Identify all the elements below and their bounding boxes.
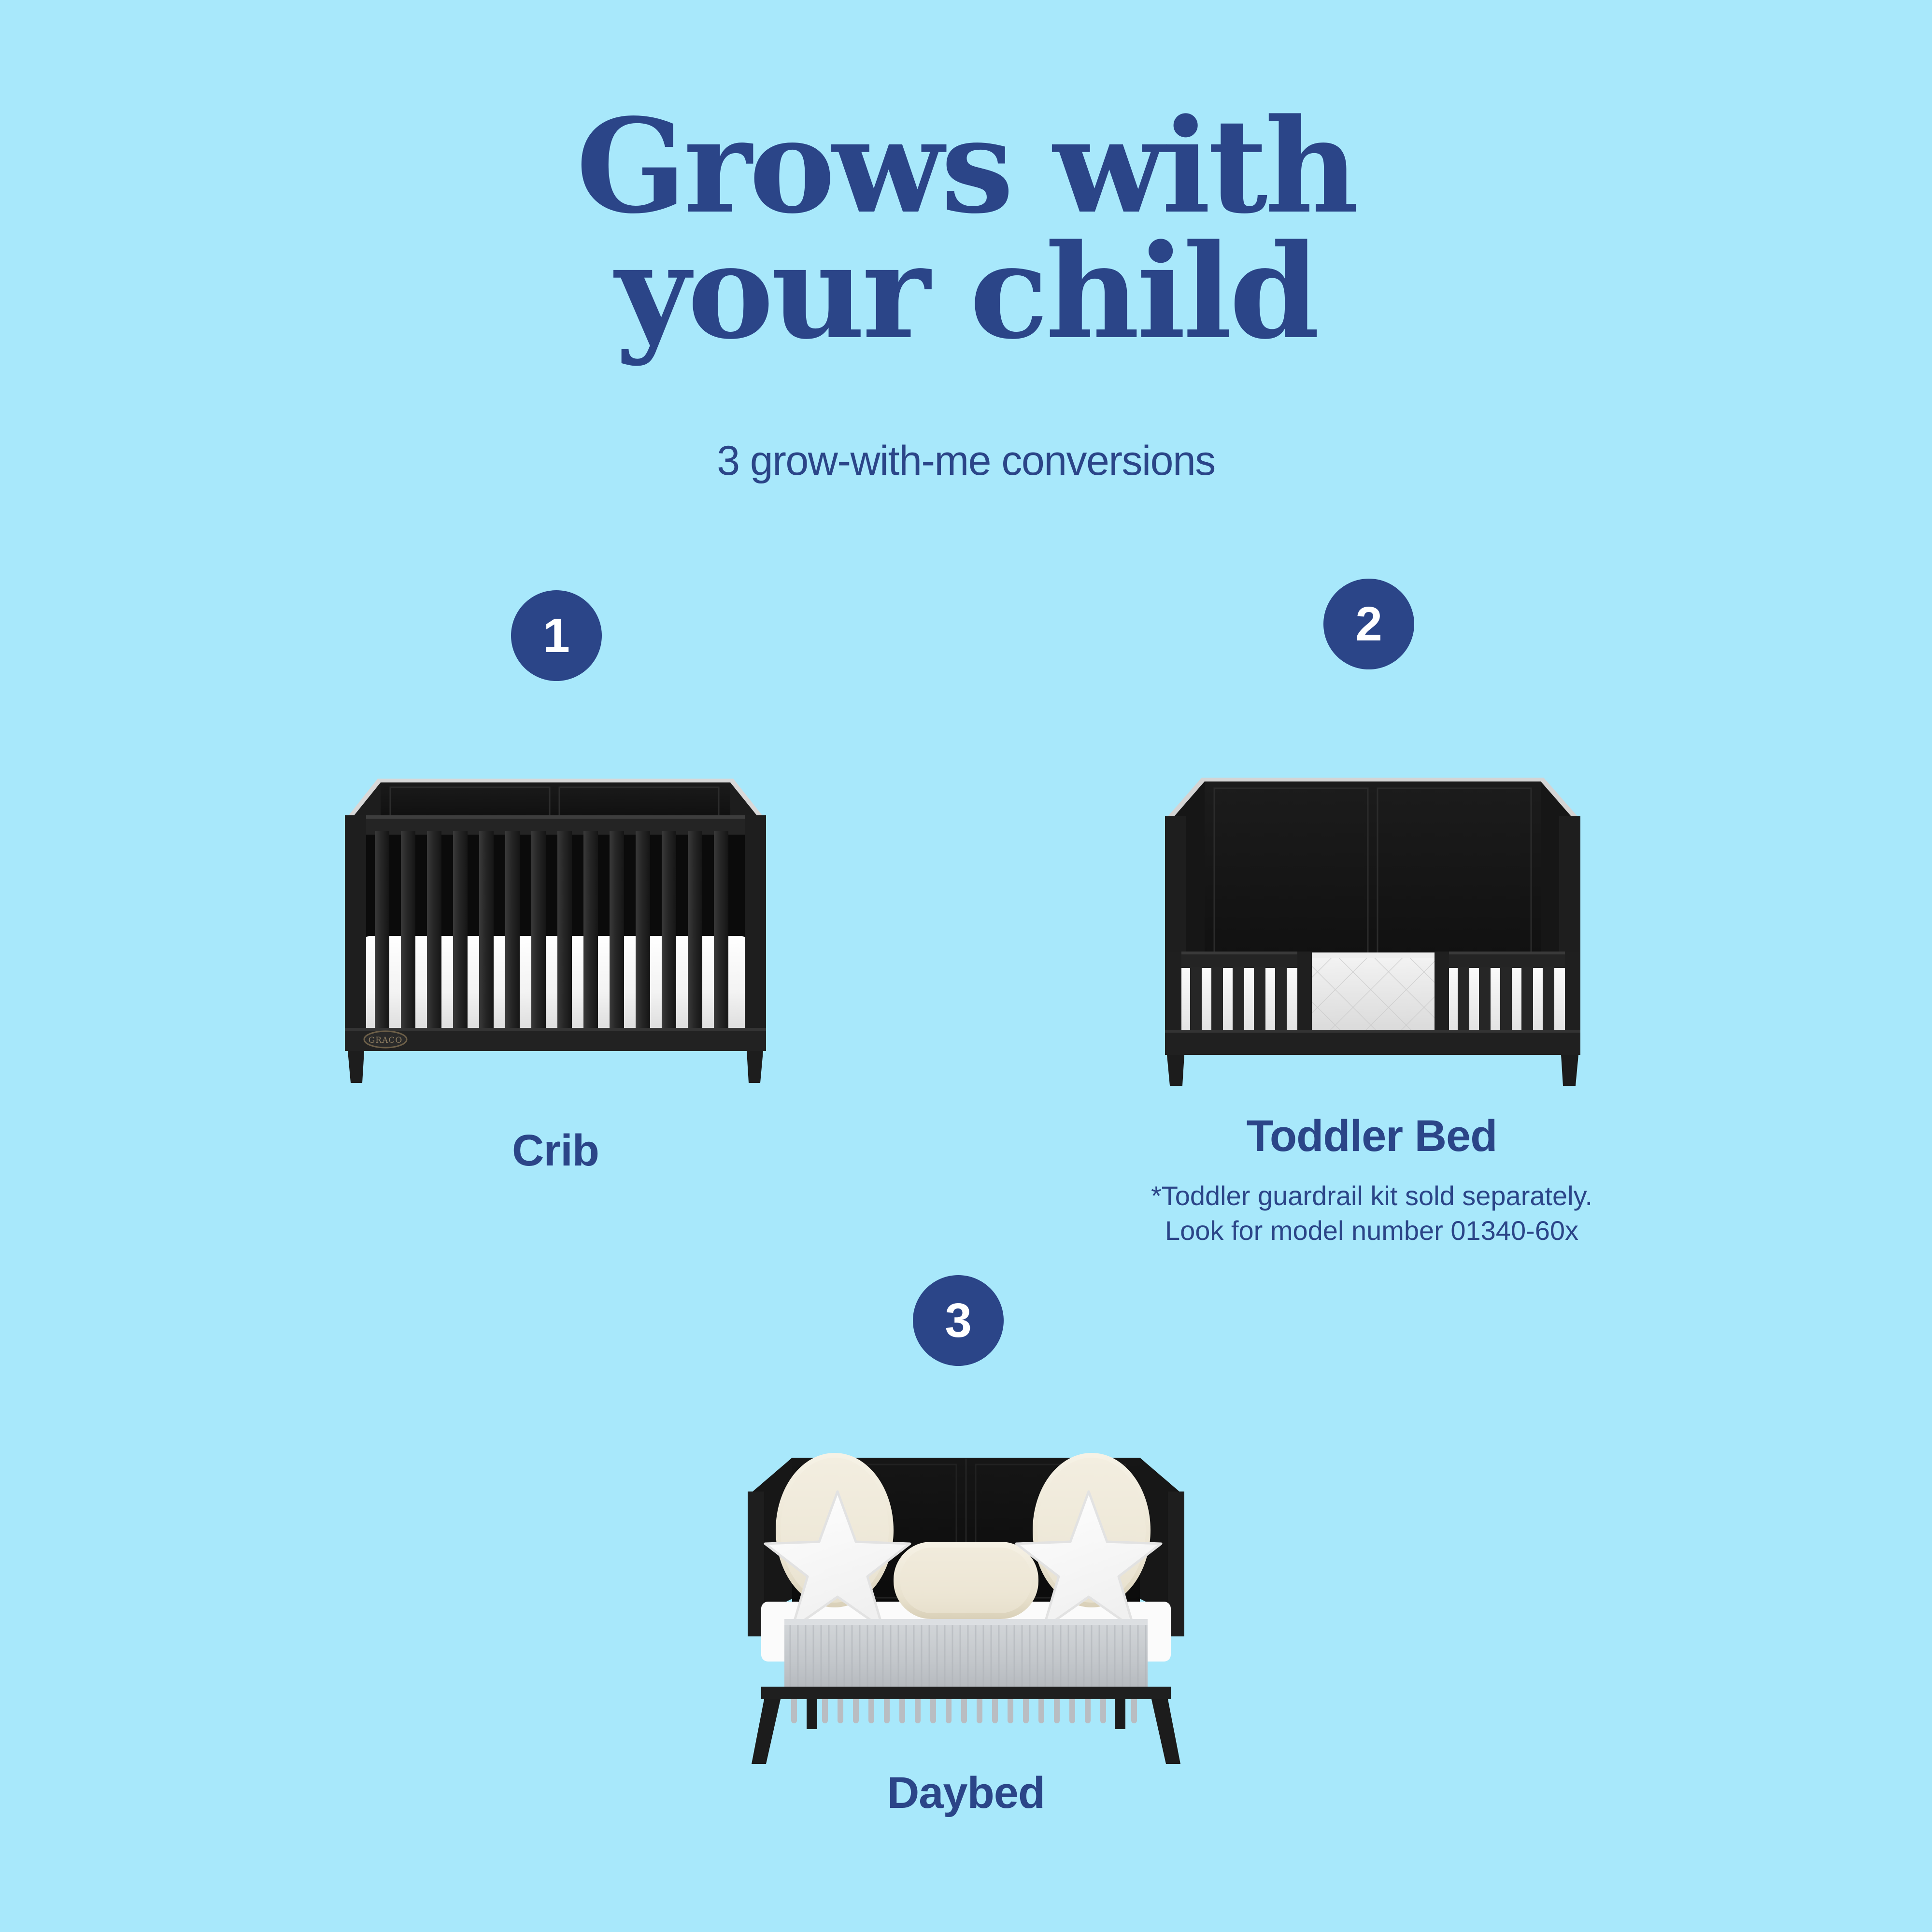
toddler-bed-caption: Toddler Bed — [1140, 1111, 1604, 1162]
badge-number-label: 2 — [1355, 600, 1382, 648]
badge-number-label: 3 — [945, 1296, 972, 1345]
number-three-badge-icon: 3 — [913, 1275, 1004, 1366]
tassel-fringe — [791, 1695, 1137, 1723]
crib-caption: Crib — [333, 1125, 778, 1176]
page-headline: Grows with your child — [0, 104, 1932, 355]
crib-illustration: GRACO — [333, 758, 778, 1087]
infographic-canvas: Grows with your child 3 grow-with-me con… — [0, 0, 1932, 1932]
fur-bolster-pillow — [894, 1542, 1038, 1619]
daybed-illustration — [734, 1439, 1198, 1768]
graco-brand-badge: GRACO — [364, 1031, 407, 1048]
page-subtitle: 3 grow-with-me conversions — [0, 437, 1932, 485]
number-two-badge-icon: 2 — [1323, 579, 1414, 669]
badge-number-label: 1 — [543, 611, 570, 660]
svg-text:GRACO: GRACO — [369, 1036, 403, 1045]
toddler-bed-disclaimer: *Toddler guardrail kit sold separately. … — [1087, 1179, 1657, 1248]
knit-throw-blanket — [784, 1619, 1148, 1695]
number-one-badge-icon: 1 — [511, 590, 602, 681]
daybed-caption: Daybed — [734, 1768, 1198, 1818]
toddler-bed-illustration — [1140, 758, 1604, 1087]
